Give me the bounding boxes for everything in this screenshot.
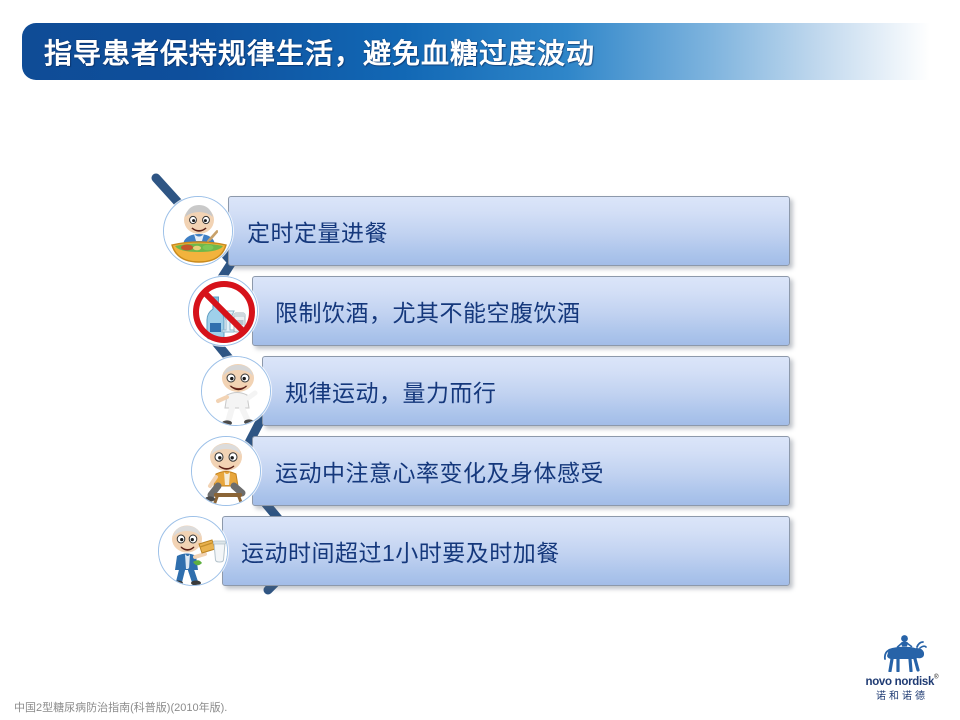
elderly-man-snack-drink-icon	[158, 516, 228, 586]
logo-wordmark-chinese: 诺和诺德	[856, 691, 948, 703]
elderly-man-sitting-resting-icon	[191, 436, 261, 506]
item-bar[interactable]: 定时定量进餐	[228, 196, 790, 266]
apis-bull-icon	[877, 634, 927, 672]
no-alcohol-prohibition-icon	[188, 276, 258, 346]
list-item-label: 定时定量进餐	[247, 214, 388, 248]
list-item-label: 限制饮酒，尤其不能空腹饮酒	[275, 294, 581, 328]
elderly-man-exercising-icon	[201, 356, 271, 426]
novo-nordisk-logo: novo nordisk® 诺和诺德	[856, 634, 948, 700]
elderly-man-eating-bowl-icon	[163, 196, 233, 266]
page-title: 指导患者保持规律生活，避免血糖过度波动	[44, 32, 595, 72]
list-item-label: 规律运动，量力而行	[285, 374, 497, 408]
list-item-label: 运动时间超过1小时要及时加餐	[241, 534, 560, 568]
item-bar[interactable]: 运动中注意心率变化及身体感受	[252, 436, 790, 506]
source-footnote: 中国2型糖尿病防治指南(科普版)(2010年版).	[14, 699, 227, 715]
item-bar[interactable]: 限制饮酒，尤其不能空腹饮酒	[252, 276, 790, 346]
list-item-label: 运动中注意心率变化及身体感受	[275, 454, 604, 488]
slide-canvas: 指导患者保持规律生活，避免血糖过度波动 定时定量进餐	[0, 0, 960, 720]
registered-trademark-icon: ®	[934, 675, 938, 681]
item-bar[interactable]: 运动时间超过1小时要及时加餐	[222, 516, 790, 586]
slide-title-banner: 指导患者保持规律生活，避免血糖过度波动	[22, 23, 930, 80]
item-bar[interactable]: 规律运动，量力而行	[262, 356, 790, 426]
logo-wordmark: novo nordisk	[865, 676, 934, 688]
